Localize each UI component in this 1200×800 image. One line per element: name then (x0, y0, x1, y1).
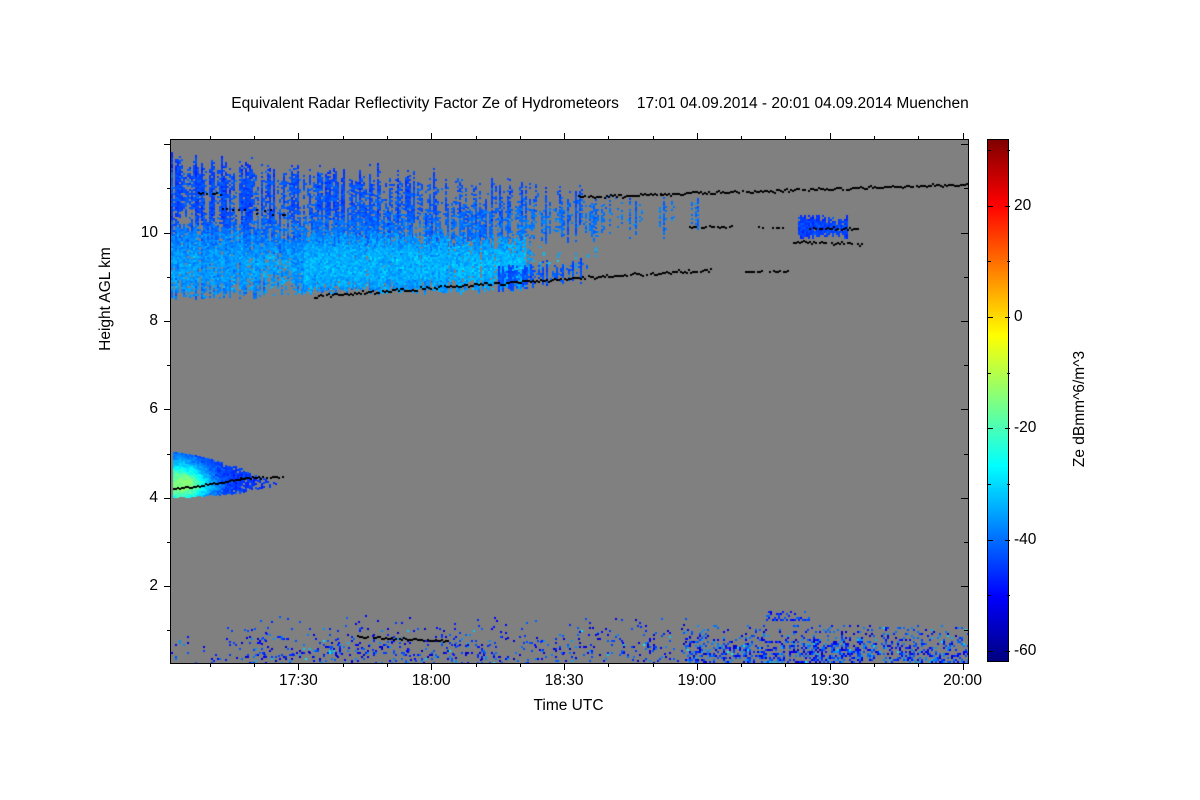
colorbar-tick-label-0: 0 (1014, 308, 1023, 326)
x-tick-50 (387, 663, 388, 667)
y-tick-label-4: 4 (118, 489, 158, 507)
colorbar-tick-left-20 (988, 206, 993, 207)
x-tick-label-1830: 18:30 (519, 672, 609, 690)
y-tick-inner-11 (964, 188, 968, 189)
x-tick-top-100 (608, 136, 609, 140)
colorbar-tick--20 (1005, 428, 1010, 429)
colorbar-tick-left--10 (988, 373, 991, 374)
colorbar-gradient (987, 139, 1009, 662)
figure-title: Equivalent Radar Reflectivity Factor Ze … (0, 95, 1200, 113)
x-tick-30 (298, 663, 299, 670)
x-tick-top-170 (918, 136, 919, 140)
colorbar-tick-left--60 (988, 651, 993, 652)
x-tick-80 (520, 663, 521, 667)
y-tick-inner-4 (961, 498, 968, 499)
y-tick-11 (167, 188, 171, 189)
y-tick-3 (167, 542, 171, 543)
y-tick-4 (164, 498, 171, 499)
x-tick-170 (918, 663, 919, 667)
y-tick-label-6: 6 (118, 400, 158, 418)
x-tick-110 (653, 663, 654, 667)
x-tick-140 (785, 663, 786, 667)
y-tick-label-2: 2 (118, 577, 158, 595)
colorbar-tick--50 (1007, 595, 1010, 596)
x-tick-label-2000: 20:00 (918, 672, 1008, 690)
colorbar-tick-label-m20: -20 (1014, 419, 1036, 437)
y-tick-inner-1 (964, 630, 968, 631)
y-tick-inner-5 (964, 454, 968, 455)
x-tick-top-20 (254, 136, 255, 140)
colorbar-tick-label-m40: -40 (1014, 531, 1036, 549)
x-tick-label-1930: 19:30 (785, 672, 875, 690)
x-tick-60 (431, 663, 432, 670)
y-tick-inner-7 (964, 365, 968, 366)
reflectivity-heatmap (171, 140, 968, 663)
y-tick-8 (164, 321, 171, 322)
colorbar-tick-0 (1005, 317, 1010, 318)
x-tick-160 (874, 663, 875, 667)
x-tick-100 (608, 663, 609, 667)
colorbar-tick-left-0 (988, 317, 993, 318)
y-tick-inner-8 (961, 321, 968, 322)
colorbar-tick-left-30 (988, 150, 991, 151)
colorbar (987, 139, 1009, 662)
x-tick-label-1730: 17:30 (253, 672, 343, 690)
x-tick-top-180 (963, 133, 964, 140)
figure-title-main: Equivalent Radar Reflectivity Factor Ze … (231, 95, 619, 112)
y-tick-label-10: 10 (118, 224, 158, 242)
x-tick-top-60 (431, 133, 432, 140)
x-tick-top-30 (298, 133, 299, 140)
x-tick-top-40 (343, 136, 344, 140)
x-tick-top-80 (520, 136, 521, 140)
colorbar-tick--10 (1007, 373, 1010, 374)
x-tick-120 (697, 663, 698, 670)
y-tick-1 (167, 630, 171, 631)
x-tick-top-50 (387, 136, 388, 140)
y-tick-6 (164, 409, 171, 410)
x-tick-top-130 (741, 136, 742, 140)
x-tick-top-90 (564, 133, 565, 140)
y-tick-10 (164, 233, 171, 234)
x-tick-top-140 (785, 136, 786, 140)
y-axis-label: Height AGL km (97, 189, 115, 409)
y-tick-inner-9 (964, 277, 968, 278)
x-tick-top-160 (874, 136, 875, 140)
y-tick-inner-6 (961, 409, 968, 410)
x-tick-label-1800: 18:00 (386, 672, 476, 690)
y-tick-7 (167, 365, 171, 366)
colorbar-tick-left-10 (988, 261, 991, 262)
x-tick-40 (343, 663, 344, 667)
x-tick-90 (564, 663, 565, 670)
colorbar-tick-label-20: 20 (1014, 197, 1031, 215)
figure-title-timerange: 17:01 04.09.2014 - 20:01 04.09.2014 Muen… (637, 95, 969, 112)
x-tick-top-10 (210, 136, 211, 140)
colorbar-tick-left--40 (988, 540, 993, 541)
colorbar-tick--40 (1005, 540, 1010, 541)
y-tick-label-8: 8 (118, 312, 158, 330)
y-tick-2 (164, 586, 171, 587)
y-tick-9 (167, 277, 171, 278)
x-tick-70 (476, 663, 477, 667)
x-tick-180 (963, 663, 964, 670)
x-tick-label-1900: 19:00 (652, 672, 742, 690)
y-tick-inner-3 (964, 542, 968, 543)
colorbar-tick-label-m60: -60 (1014, 642, 1036, 660)
x-tick-20 (254, 663, 255, 667)
x-tick-top-110 (653, 136, 654, 140)
colorbar-tick-left--30 (988, 484, 991, 485)
colorbar-label: Ze dBmm^6/m^3 (1071, 284, 1089, 534)
colorbar-tick--60 (1005, 651, 1010, 652)
y-tick-inner-10 (961, 233, 968, 234)
colorbar-tick-30 (1007, 150, 1010, 151)
y-tick-12 (164, 144, 171, 145)
colorbar-tick--30 (1007, 484, 1010, 485)
colorbar-tick-20 (1005, 206, 1010, 207)
x-tick-top-70 (476, 136, 477, 140)
colorbar-tick-10 (1007, 261, 1010, 262)
x-axis-label: Time UTC (170, 697, 967, 715)
plot-area (170, 139, 969, 664)
y-tick-inner-2 (961, 586, 968, 587)
x-tick-150 (830, 663, 831, 670)
colorbar-tick-left--50 (988, 595, 991, 596)
radar-reflectivity-figure: Equivalent Radar Reflectivity Factor Ze … (0, 0, 1200, 800)
x-tick-130 (741, 663, 742, 667)
y-tick-inner-12 (961, 144, 968, 145)
colorbar-tick-left--20 (988, 428, 993, 429)
y-tick-5 (167, 454, 171, 455)
x-tick-top-150 (830, 133, 831, 140)
x-tick-10 (210, 663, 211, 667)
x-tick-top-120 (697, 133, 698, 140)
